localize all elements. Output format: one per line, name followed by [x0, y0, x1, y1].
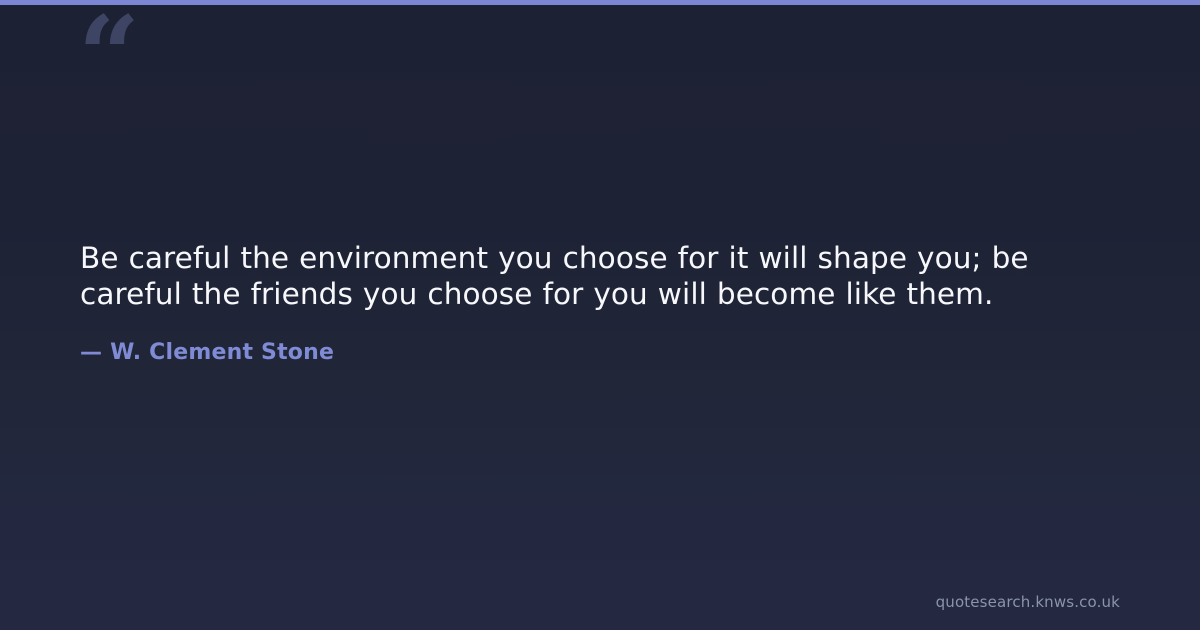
- quote-body: Be careful the environment you choose fo…: [80, 240, 1120, 312]
- site-watermark: quotesearch.knws.co.uk: [936, 592, 1120, 612]
- quote-card: “ Be careful the environment you choose …: [0, 0, 1200, 630]
- quotation-mark-icon: “: [78, 2, 138, 110]
- attribution-author-name: W. Clement Stone: [110, 340, 334, 365]
- attribution-dash: —: [80, 340, 102, 365]
- quote-attribution: — W. Clement Stone: [80, 338, 334, 368]
- top-accent-bar: [0, 0, 1200, 5]
- quote-text: Be careful the environment you choose fo…: [80, 240, 1120, 312]
